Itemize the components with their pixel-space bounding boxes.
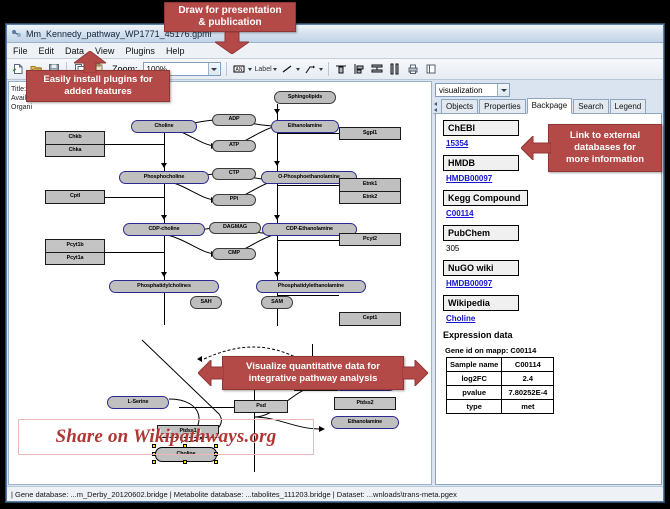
cell-value-log2fc: 2.4 — [502, 372, 554, 386]
status-bar: | Gene database: ...m_Derby_20120602.bri… — [7, 486, 663, 501]
tab-legend[interactable]: Legend — [610, 99, 647, 113]
callout-share-text: Share on Wikipathways.org — [56, 426, 277, 448]
pathvisio-icon — [11, 28, 22, 39]
node-cmp[interactable]: CMP — [212, 248, 256, 260]
label-tool-text: Label — [255, 66, 272, 73]
canvas-label-organism: Organi — [11, 104, 32, 111]
edge-chk-to-backbone — [104, 144, 164, 145]
section-header-wikipedia: Wikipedia — [443, 295, 519, 311]
properties-icon[interactable] — [424, 62, 439, 77]
toolbar-separator-3 — [328, 62, 329, 76]
svg-text:AN: AN — [236, 67, 243, 73]
callout-link-line1: Link to external — [570, 130, 640, 142]
callout-share: Share on Wikipathways.org — [18, 419, 314, 455]
gene-id-line: Gene id on mapp: C00114 — [445, 346, 661, 355]
menu-item-help[interactable]: Help — [165, 46, 186, 56]
selection-handle-sw[interactable] — [152, 460, 156, 464]
node-phosphocholine[interactable]: Phosphocholine — [119, 171, 209, 184]
cell-label-type: type — [447, 400, 502, 414]
node-etnk1[interactable]: Etnk1 — [339, 178, 401, 191]
node-cept1[interactable]: Cept1 — [339, 312, 401, 326]
tab-strip: Objects Properties Backpage Search Legen… — [433, 99, 662, 114]
node-pcyt1a[interactable]: Pcyt1a — [45, 252, 105, 265]
node-ppi[interactable]: PPi — [212, 194, 256, 206]
align-top-icon[interactable] — [334, 62, 349, 77]
tab-properties[interactable]: Properties — [479, 99, 525, 113]
node-pcyt1b[interactable]: Pcyt1b — [45, 239, 105, 252]
cell-label-log2fc: log2FC — [447, 372, 502, 386]
menu-item-edit[interactable]: Edit — [38, 46, 56, 56]
node-cdp-choline[interactable]: CDP-choline — [123, 223, 205, 236]
tab-overflow-icon[interactable] — [434, 102, 437, 112]
node-adp[interactable]: ADP — [212, 114, 256, 126]
section-header-kegg: Kegg Compound — [443, 190, 528, 206]
callout-link-line2: databases for — [574, 142, 636, 154]
chevron-down-icon[interactable] — [497, 84, 509, 96]
datanode-icon[interactable]: AN — [232, 62, 247, 77]
line-icon[interactable] — [280, 62, 295, 77]
callout-visualize-line2: integrative pathway analysis — [249, 373, 378, 385]
expression-table: Sample name C00114 log2FC 2.4 pvalue 7.8… — [446, 357, 554, 414]
node-l-serine-left[interactable]: L-Serine — [107, 396, 169, 409]
node-ctp[interactable]: CTP — [212, 168, 256, 180]
nugo-link[interactable]: HMDB00097 — [446, 279, 661, 288]
selection-handle-se[interactable] — [214, 460, 218, 464]
node-sphingolipids[interactable]: Sphingolipids — [274, 91, 336, 104]
callout-draw-line2: & publication — [198, 17, 261, 30]
canvas-label-title: Title: — [11, 86, 26, 93]
cell-value-type: met — [502, 400, 554, 414]
expression-data-title: Expression data — [443, 330, 661, 340]
table-row: pvalue 7.80252E-4 — [447, 386, 554, 400]
interaction-tool[interactable] — [303, 62, 323, 77]
new-file-icon[interactable] — [10, 62, 25, 77]
node-atp[interactable]: ATP — [212, 140, 256, 152]
node-etnk2[interactable]: Etnk2 — [339, 191, 401, 204]
edge-pcyt2-to-backbone — [277, 240, 339, 241]
node-pcyt2[interactable]: Pcyt2 — [339, 233, 401, 246]
cell-value-sample: C00114 — [502, 358, 554, 372]
edge-etnk-to-backbone — [277, 185, 339, 186]
node-ethanolamine-bottom[interactable]: Ethanolamine — [331, 416, 399, 429]
cell-label-sample: Sample name — [447, 358, 502, 372]
selection-handle-s[interactable] — [183, 460, 187, 464]
cell-value-pvalue: 7.80252E-4 — [502, 386, 554, 400]
node-chkb[interactable]: Chkb — [45, 131, 105, 144]
node-phosphatidylethanolamine[interactable]: Phosphatidylethanolamine — [256, 280, 366, 293]
node-cptl[interactable]: Cptl — [45, 190, 105, 204]
callout-visualize-line1: Visualize quantitative data for — [246, 361, 380, 373]
callout-draw-line1: Draw for presentation — [178, 5, 281, 18]
tab-backpage[interactable]: Backpage — [527, 98, 573, 114]
menu-item-file[interactable]: File — [12, 46, 29, 56]
edge-pcyt1-to-backbone — [104, 252, 164, 253]
kegg-link[interactable]: C00114 — [446, 209, 661, 218]
edge-cptl-to-backbone — [104, 197, 164, 198]
chevron-down-icon[interactable] — [208, 63, 219, 75]
node-choline-top[interactable]: Choline — [131, 120, 197, 133]
cell-label-pvalue: pvalue — [447, 386, 502, 400]
pubchem-value: 305 — [446, 244, 661, 253]
node-chka[interactable]: Chka — [45, 144, 105, 157]
section-header-nugo: NuGO wiki — [443, 260, 519, 276]
node-phosphatidylcholines[interactable]: Phosphatidylcholines — [109, 280, 219, 293]
node-dagmag[interactable]: DAGMAG — [209, 222, 261, 234]
callout-plugins-line2: added features — [64, 86, 132, 98]
print-icon[interactable] — [406, 62, 421, 77]
section-header-hmdb: HMDB — [443, 155, 519, 171]
node-sgpl1[interactable]: Sgpl1 — [339, 127, 401, 140]
edge-sgpl1-to-backbone — [277, 133, 339, 134]
node-ptdss2[interactable]: Ptdss2 — [334, 397, 396, 410]
callout-link: Link to external databases for more info… — [548, 124, 662, 172]
node-sam[interactable]: SAM — [261, 296, 293, 309]
wikipedia-link[interactable]: Choline — [446, 314, 661, 323]
section-header-pubchem: PubChem — [443, 225, 519, 241]
arrow-sphingo-to-ethanolamine — [274, 109, 280, 114]
distribute-vertical-icon[interactable] — [370, 62, 385, 77]
tab-search[interactable]: Search — [573, 99, 608, 113]
label-tool[interactable]: Label — [255, 66, 277, 73]
callout-link-line3: more information — [566, 154, 644, 166]
line-tool[interactable] — [280, 62, 300, 77]
visualization-value: visualization — [439, 86, 483, 95]
node-psd[interactable]: Psd — [234, 400, 288, 413]
toolbar-separator-2 — [226, 62, 227, 76]
interaction-icon[interactable] — [303, 62, 318, 77]
section-header-chebi: ChEBI — [443, 120, 519, 136]
callout-plugins-line1: Easily install plugins for — [43, 74, 152, 86]
align-left-icon[interactable] — [352, 62, 367, 77]
hmdb-link[interactable]: HMDB00097 — [446, 174, 661, 183]
title-bar: Mm_Kennedy_pathway_WP1771_45176.gpml — [7, 25, 663, 43]
visualization-row: visualization — [433, 81, 662, 99]
distribute-horizontal-icon[interactable] — [388, 62, 403, 77]
node-sah[interactable]: SAH — [190, 296, 222, 309]
table-row: log2FC 2.4 — [447, 372, 554, 386]
menu-item-plugins[interactable]: Plugins — [124, 46, 156, 56]
visualization-combobox[interactable]: visualization — [435, 83, 510, 97]
callout-plugins: Easily install plugins for added feature… — [26, 70, 170, 102]
tab-objects[interactable]: Objects — [441, 99, 478, 113]
datanode-tool[interactable]: AN — [232, 62, 252, 77]
table-row: type met — [447, 400, 554, 414]
node-ethanolamine-top[interactable]: Ethanolamine — [271, 120, 339, 133]
table-row: Sample name C00114 — [447, 358, 554, 372]
callout-draw: Draw for presentation & publication — [164, 2, 296, 32]
status-text: | Gene database: ...m_Derby_20120602.bri… — [11, 490, 457, 499]
callout-visualize: Visualize quantitative data for integrat… — [222, 356, 404, 390]
